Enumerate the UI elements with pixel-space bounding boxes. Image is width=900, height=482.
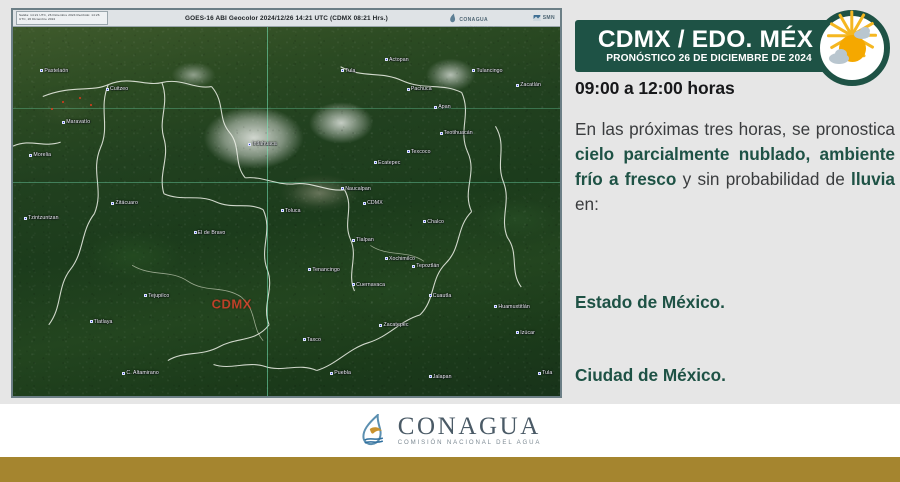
map-city-label: Cuitzeo xyxy=(106,86,128,92)
city-marker-dot xyxy=(303,338,306,341)
forecast-region-ciudad-de-mexico: Ciudad de México. xyxy=(575,365,726,386)
city-name-text: Chalco xyxy=(427,219,444,225)
sun-behind-cloud-icon xyxy=(814,10,890,86)
city-marker-dot xyxy=(24,217,27,220)
map-city-label: Tlatlaya xyxy=(90,319,113,325)
bottom-accent-bar xyxy=(0,457,900,482)
city-marker-dot xyxy=(494,305,497,308)
city-marker-dot xyxy=(29,154,32,157)
city-marker-dot xyxy=(538,372,541,375)
map-city-label: Toluca xyxy=(281,208,301,214)
city-marker-dot xyxy=(516,84,519,87)
city-marker-dot xyxy=(144,294,147,297)
map-city-label: Teotihuacán xyxy=(440,130,473,136)
map-city-label: Izúcar xyxy=(516,330,535,336)
footer-org-name: CONAGUA xyxy=(398,414,541,439)
city-name-text: Izúcar xyxy=(520,330,535,336)
city-name-text: Pachuca xyxy=(411,86,432,92)
water-drop-icon xyxy=(449,13,457,23)
smn-emblem-icon xyxy=(533,13,541,23)
map-city-label: Zitácuaro xyxy=(111,200,138,206)
city-name-text: Maravatío xyxy=(66,119,90,125)
city-name-text: Texcoco xyxy=(411,149,431,155)
city-name-text: Tula xyxy=(345,68,355,74)
footer-org-subtitle: COMISIÓN NACIONAL DEL AGUA xyxy=(398,440,541,446)
map-city-label: Apan xyxy=(434,104,451,110)
forecast-description: En las próximas tres horas, se pronostic… xyxy=(575,117,895,217)
city-name-text: Taxco xyxy=(307,337,321,343)
map-city-label: Ecatepec xyxy=(374,160,400,166)
map-city-label: Jalapan xyxy=(429,374,452,380)
map-city-label: Huamuxtitlán xyxy=(494,304,529,310)
map-city-label: Tula xyxy=(538,370,552,376)
city-name-text: Huamuxtitlán xyxy=(498,304,529,310)
city-marker-dot xyxy=(308,268,311,271)
city-name-text: Zitácuaro xyxy=(115,200,138,206)
footer-band: CONAGUA COMISIÓN NACIONAL DEL AGUA xyxy=(0,404,900,457)
weather-icon-graphic xyxy=(824,20,880,76)
map-city-label: Pastelaón xyxy=(40,68,68,74)
map-city-label: Cuautla xyxy=(429,293,452,299)
city-marker-dot xyxy=(412,265,415,268)
city-name-text: Xochimilco xyxy=(389,256,415,262)
cdmx-watermark: CDMX xyxy=(212,296,252,311)
city-name-text: Ixtlahuaca xyxy=(252,141,277,147)
city-marker-dot xyxy=(62,121,65,124)
map-city-label: Tenancingo xyxy=(308,267,340,273)
cloud-upper-puff xyxy=(860,27,870,35)
city-marker-dot xyxy=(407,150,410,153)
city-name-text: CDMX xyxy=(367,200,383,206)
map-city-label: Xochimilco xyxy=(385,256,415,262)
map-city-label: C. Altamirano xyxy=(122,370,158,376)
map-city-label: El de Bravo xyxy=(194,230,226,236)
city-name-text: Tlatlaya xyxy=(94,319,113,325)
map-city-label: Actopan xyxy=(385,57,409,63)
forecast-segment-3: lluvia xyxy=(851,169,895,189)
city-marker-dot xyxy=(341,69,344,72)
city-name-text: Pastelaón xyxy=(44,68,68,74)
city-marker-dot xyxy=(385,257,388,260)
city-name-text: Naucalpan xyxy=(345,186,371,192)
city-marker-dot xyxy=(374,161,377,164)
map-city-label: Tulancingo xyxy=(472,68,502,74)
water-eagle-icon xyxy=(359,414,389,448)
satellite-smn-label: SMN xyxy=(543,15,555,21)
city-name-text: Actopan xyxy=(389,57,409,63)
city-marker-dot xyxy=(429,294,432,297)
city-name-text: El de Bravo xyxy=(198,230,226,236)
city-name-text: Ecatepec xyxy=(378,160,400,166)
satellite-header-bar: Salida: 14:21 UTC, 26 Diciembre 2024 Rec… xyxy=(13,10,560,27)
map-city-label: Naucalpan xyxy=(341,186,371,192)
satellite-conagua-label: CONAGUA COMISIÓN NACIONAL DEL AGUA xyxy=(459,8,502,29)
city-name-text: Apan xyxy=(438,104,451,110)
page-title: CDMX / EDO. MÉX. xyxy=(598,28,820,53)
map-city-label: Tula xyxy=(341,68,355,74)
city-name-text: Cuitzeo xyxy=(110,86,128,92)
city-marker-dot xyxy=(90,320,93,323)
city-name-text: Cuernavaca xyxy=(356,282,385,288)
map-city-label: Puebla xyxy=(330,370,351,376)
map-city-label: Cuernavaca xyxy=(352,282,385,288)
city-marker-dot xyxy=(407,88,410,91)
map-city-label: Tzintzuntzan xyxy=(24,215,59,221)
city-name-text: Toluca xyxy=(285,208,301,214)
satellite-image-panel: Salida: 14:21 UTC, 26 Diciembre 2024 Rec… xyxy=(11,8,562,398)
city-marker-dot xyxy=(385,58,388,61)
parallel-line-secondary xyxy=(13,108,560,109)
forecast-region-estado-de-mexico: Estado de México. xyxy=(575,292,725,313)
conagua-logo: CONAGUA COMISIÓN NACIONAL DEL AGUA xyxy=(359,414,541,448)
city-name-text: Tejupilco xyxy=(148,293,169,299)
map-city-label: Maravatío xyxy=(62,119,90,125)
conagua-logo-text: CONAGUA COMISIÓN NACIONAL DEL AGUA xyxy=(398,414,541,446)
map-city-label: Zacatepec xyxy=(379,322,408,328)
city-marker-dot xyxy=(40,69,43,72)
forecast-segment-0: En las próximas tres horas, se pronostic… xyxy=(575,119,895,139)
map-city-label: CDMX xyxy=(363,200,383,206)
map-city-label: Pachuca xyxy=(407,86,432,92)
map-city-label: Chalco xyxy=(423,219,444,225)
city-marker-dot xyxy=(440,132,443,135)
weather-forecast-infographic: Salida: 14:21 UTC, 26 Diciembre 2024 Rec… xyxy=(0,0,900,482)
city-name-text: Morelia xyxy=(33,152,51,158)
city-name-text: Tulancingo xyxy=(476,68,502,74)
forecast-segment-4: en: xyxy=(575,194,599,214)
city-marker-dot xyxy=(363,202,366,205)
map-city-label: Taxco xyxy=(303,337,321,343)
satellite-conagua-logo: CONAGUA COMISIÓN NACIONAL DEL AGUA xyxy=(449,12,502,24)
city-marker-dot xyxy=(281,209,284,212)
city-marker-dot xyxy=(248,143,251,146)
map-city-label: Tlalpan xyxy=(352,237,374,243)
city-name-text: Zacatlán xyxy=(520,82,541,88)
title-banner: CDMX / EDO. MÉX. PRONÓSTICO 26 DE DICIEM… xyxy=(575,20,843,72)
forecast-segment-2: y sin probabilidad de xyxy=(676,169,851,189)
city-marker-dot xyxy=(106,88,109,91)
city-name-text: Tzintzuntzan xyxy=(28,215,59,221)
city-marker-dot xyxy=(330,372,333,375)
city-marker-dot xyxy=(429,375,432,378)
city-name-text: Tlalpan xyxy=(356,237,374,243)
cloud-lower-puff xyxy=(835,49,847,59)
map-city-label: Morelia xyxy=(29,152,51,158)
fire-hotspot xyxy=(79,97,81,99)
city-marker-dot xyxy=(111,202,114,205)
city-name-text: C. Altamirano xyxy=(126,370,158,376)
city-marker-dot xyxy=(122,372,125,375)
city-marker-dot xyxy=(352,239,355,242)
city-name-text: Puebla xyxy=(334,370,351,376)
city-name-text: Jalapan xyxy=(433,374,452,380)
city-marker-dot xyxy=(434,106,437,109)
map-city-label: Ixtlahuaca xyxy=(248,141,277,147)
city-marker-dot xyxy=(516,331,519,334)
satellite-smn-logo: SMN xyxy=(533,12,555,24)
forecast-info-column: CDMX / EDO. MÉX. PRONÓSTICO 26 DE DICIEM… xyxy=(570,0,900,404)
map-city-label: Texcoco xyxy=(407,149,431,155)
city-marker-dot xyxy=(341,187,344,190)
map-city-label: Zacatlán xyxy=(516,82,541,88)
city-marker-dot xyxy=(423,220,426,223)
forecast-date-subtitle: PRONÓSTICO 26 DE DICIEMBRE DE 2024 xyxy=(606,54,812,64)
city-name-text: Cuautla xyxy=(433,293,452,299)
forecast-time-range: 09:00 a 12:00 horas xyxy=(575,78,735,99)
map-city-label: Tejupilco xyxy=(144,293,169,299)
city-name-text: Tula xyxy=(542,370,552,376)
city-name-text: Tepoztlán xyxy=(416,263,439,269)
meridian-line xyxy=(267,27,268,396)
city-name-text: Zacatepec xyxy=(383,322,408,328)
city-name-text: Teotihuacán xyxy=(444,130,473,136)
city-marker-dot xyxy=(352,283,355,286)
satellite-imagery: PastelaónMaravatíoMoreliaCuitzeoZitácuar… xyxy=(13,27,560,396)
map-city-label: Tepoztlán xyxy=(412,263,439,269)
city-name-text: Tenancingo xyxy=(312,267,340,273)
city-marker-dot xyxy=(194,231,197,234)
parallel-line xyxy=(13,182,560,183)
